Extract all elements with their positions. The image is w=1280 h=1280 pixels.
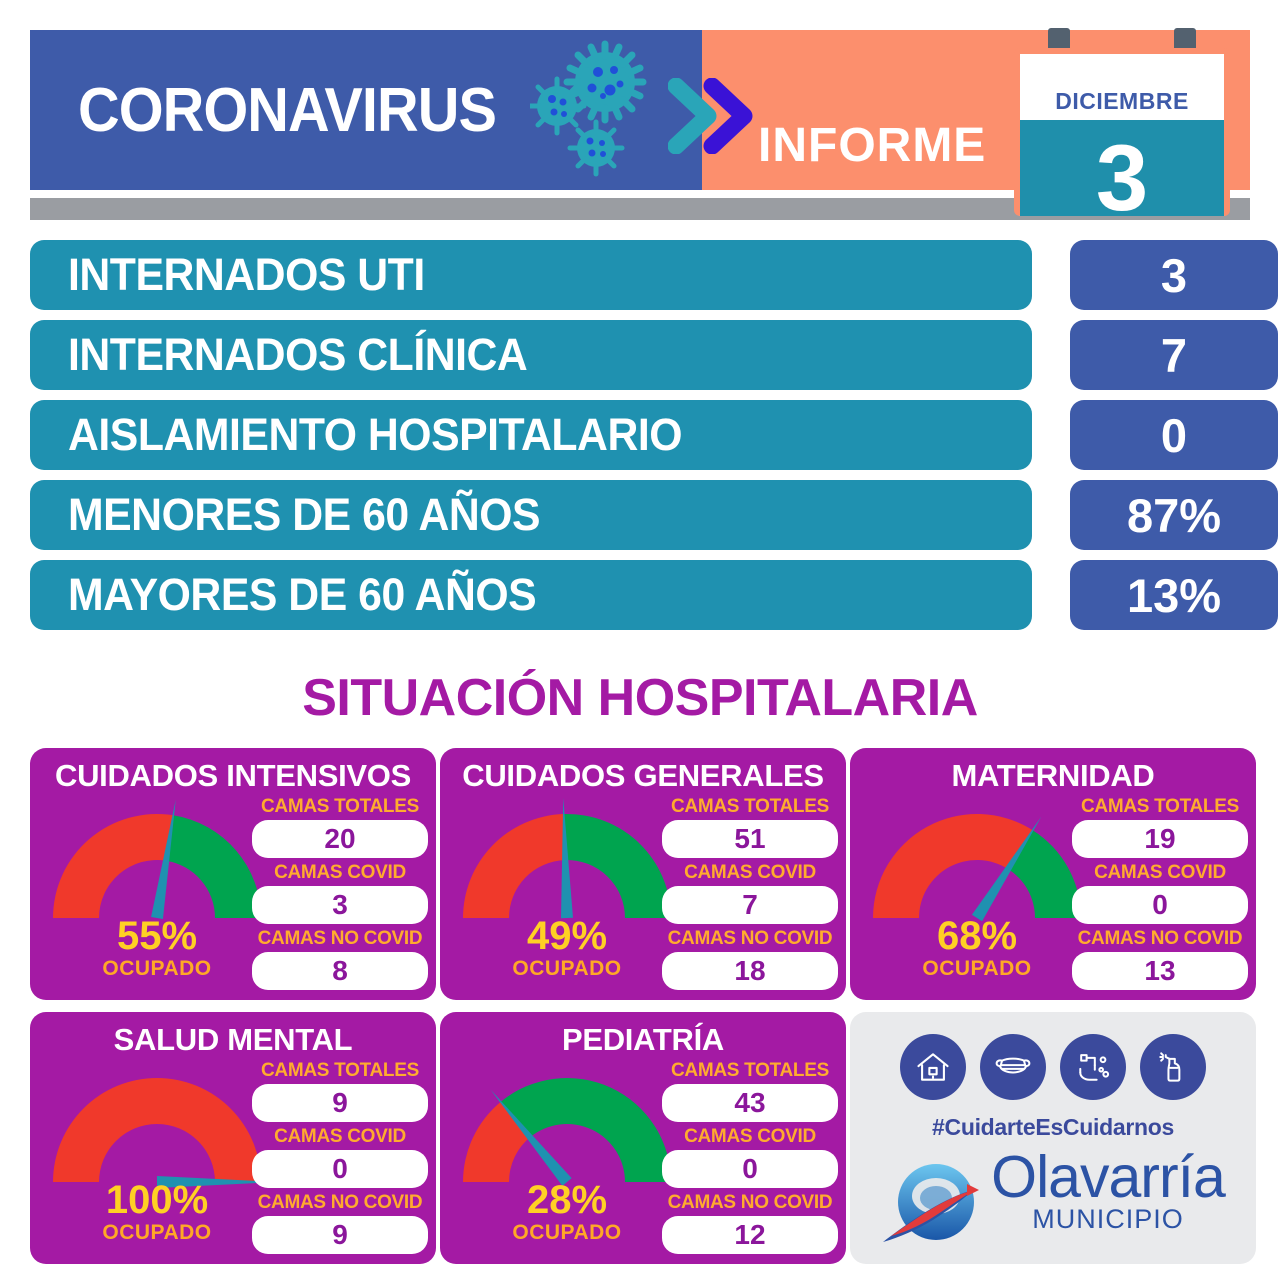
- prevention-icons: [850, 1034, 1256, 1100]
- bed-stats: CAMAS TOTALES 43 CAMAS COVID 0 CAMAS NO …: [662, 1060, 838, 1258]
- calendar-month: DICIEMBRE: [1020, 88, 1224, 115]
- bed-noncovid-value: 9: [252, 1216, 428, 1254]
- calendar-icon: DICIEMBRE 3: [1014, 28, 1230, 216]
- bed-total-value: 51: [662, 820, 838, 858]
- bed-noncovid-label: CAMAS NO COVID: [662, 1192, 838, 1214]
- gauge-percent: 55%: [42, 916, 272, 956]
- gauge-percent: 100%: [42, 1180, 272, 1220]
- olavarria-logo-mark: [881, 1150, 989, 1250]
- card-cuidados-generales: CUIDADOS GENERALES 49% OCUPADO CAMAS TOT…: [440, 748, 846, 1000]
- stat-label-pill: INTERNADOS CLÍNICA: [30, 320, 1032, 390]
- stat-label-text: MAYORES DE 60 AÑOS: [68, 569, 536, 621]
- page-title: CORONAVIRUS: [78, 80, 496, 142]
- bed-noncovid-label: CAMAS NO COVID: [662, 928, 838, 950]
- stat-label-pill: AISLAMIENTO HOSPITALARIO: [30, 400, 1032, 470]
- stat-value-text: 3: [1161, 248, 1187, 303]
- bed-covid-value: 3: [252, 886, 428, 924]
- card-title: SALUD MENTAL: [30, 1022, 436, 1058]
- bed-covid-label: CAMAS COVID: [662, 1126, 838, 1148]
- card-title: CUIDADOS GENERALES: [440, 758, 846, 794]
- bed-total-value: 20: [252, 820, 428, 858]
- stat-value-badge: 87%: [1070, 480, 1278, 550]
- bed-total-value: 9: [252, 1084, 428, 1122]
- card-title: CUIDADOS INTENSIVOS: [30, 758, 436, 794]
- stat-value-badge: 3: [1070, 240, 1278, 310]
- gauge-percent: 28%: [452, 1180, 682, 1220]
- calendar-body: DICIEMBRE 3: [1014, 48, 1230, 216]
- bed-total-label: CAMAS TOTALES: [662, 796, 838, 818]
- bed-total-label: CAMAS TOTALES: [252, 796, 428, 818]
- bed-stats: CAMAS TOTALES 19 CAMAS COVID 0 CAMAS NO …: [1072, 796, 1248, 994]
- stat-row: INTERNADOS CLÍNICA 7: [30, 320, 1250, 390]
- double-chevron-icon: [668, 78, 760, 154]
- bed-covid-value: 0: [1072, 886, 1248, 924]
- bed-noncovid-label: CAMAS NO COVID: [1072, 928, 1248, 950]
- face-mask-icon: [980, 1034, 1046, 1100]
- bed-stats: CAMAS TOTALES 51 CAMAS COVID 7 CAMAS NO …: [662, 796, 838, 994]
- stat-label-text: MENORES DE 60 AÑOS: [68, 489, 540, 541]
- bed-noncovid-value: 8: [252, 952, 428, 990]
- bed-noncovid-value: 18: [662, 952, 838, 990]
- report-label: INFORME: [758, 122, 986, 170]
- infographic-root: CORONAVIRUS: [0, 0, 1280, 1280]
- branding-panel: #CuidarteEsCuidarnos: [850, 1012, 1256, 1264]
- stat-row: MAYORES DE 60 AÑOS 13%: [30, 560, 1250, 630]
- calendar-day: 3: [1096, 131, 1148, 216]
- bed-total-label: CAMAS TOTALES: [662, 1060, 838, 1082]
- stat-row: AISLAMIENTO HOSPITALARIO 0: [30, 400, 1250, 470]
- bed-stats: CAMAS TOTALES 9 CAMAS COVID 0 CAMAS NO C…: [252, 1060, 428, 1258]
- house-icon: [900, 1034, 966, 1100]
- bed-stats: CAMAS TOTALES 20 CAMAS COVID 3 CAMAS NO …: [252, 796, 428, 994]
- gauge-chart: [862, 796, 1092, 926]
- virus-icon: [530, 40, 670, 185]
- gauge-chart: [452, 796, 682, 926]
- gauge-chart: [42, 796, 272, 926]
- bed-noncovid-value: 13: [1072, 952, 1248, 990]
- handwash-faucet-icon: [1060, 1034, 1126, 1100]
- stat-row: INTERNADOS UTI 3: [30, 240, 1250, 310]
- card-maternidad: MATERNIDAD 68% OCUPADO CAMAS TOTALES 19 …: [850, 748, 1256, 1000]
- bed-noncovid-label: CAMAS NO COVID: [252, 1192, 428, 1214]
- gauge-percent: 68%: [862, 916, 1092, 956]
- stat-label-pill: MAYORES DE 60 AÑOS: [30, 560, 1032, 630]
- stat-label-text: INTERNADOS CLÍNICA: [68, 329, 527, 381]
- stat-label-text: INTERNADOS UTI: [68, 249, 425, 301]
- bed-covid-value: 0: [662, 1150, 838, 1188]
- bed-covid-label: CAMAS COVID: [1072, 862, 1248, 884]
- bed-covid-value: 0: [252, 1150, 428, 1188]
- bed-total-value: 19: [1072, 820, 1248, 858]
- stat-label-pill: INTERNADOS UTI: [30, 240, 1032, 310]
- bed-covid-label: CAMAS COVID: [252, 1126, 428, 1148]
- logo-name: Olavarría: [991, 1146, 1225, 1208]
- card-title: PEDIATRÍA: [440, 1022, 846, 1058]
- stat-label-pill: MENORES DE 60 AÑOS: [30, 480, 1032, 550]
- stat-row: MENORES DE 60 AÑOS 87%: [30, 480, 1250, 550]
- spray-bottle-icon: [1140, 1034, 1206, 1100]
- bed-covid-label: CAMAS COVID: [252, 862, 428, 884]
- stat-value-badge: 13%: [1070, 560, 1278, 630]
- bed-total-label: CAMAS TOTALES: [252, 1060, 428, 1082]
- bed-covid-label: CAMAS COVID: [662, 862, 838, 884]
- card-salud-mental: SALUD MENTAL 100% OCUPADO CAMAS TOTALES …: [30, 1012, 436, 1264]
- stat-value-badge: 0: [1070, 400, 1278, 470]
- stat-value-text: 7: [1161, 328, 1187, 383]
- gauge-occupied-label: OCUPADO: [452, 1221, 682, 1245]
- statistics-list: INTERNADOS UTI 3 INTERNADOS CLÍNICA 7 AI…: [30, 240, 1250, 640]
- gauge-chart: [42, 1060, 272, 1190]
- municipality-logo: Olavarría MUNICIPIO: [850, 1146, 1256, 1256]
- gauge-percent: 49%: [452, 916, 682, 956]
- gauge-occupied-label: OCUPADO: [42, 957, 272, 981]
- section-title: SITUACIÓN HOSPITALARIA: [0, 668, 1280, 728]
- hashtag-text: #CuidarteEsCuidarnos: [850, 1114, 1256, 1141]
- gauge-occupied-label: OCUPADO: [862, 957, 1092, 981]
- calendar-day-area: 3: [1020, 120, 1224, 216]
- olavarria-logo-text: Olavarría MUNICIPIO: [991, 1146, 1225, 1235]
- card-pediatria: PEDIATRÍA 28% OCUPADO CAMAS TOTALES 43 C…: [440, 1012, 846, 1264]
- stat-value-badge: 7: [1070, 320, 1278, 390]
- card-cuidados-intensivos: CUIDADOS INTENSIVOS 55% OCUPADO CAMAS TO…: [30, 748, 436, 1000]
- bed-noncovid-value: 12: [662, 1216, 838, 1254]
- stat-value-text: 0: [1161, 408, 1187, 463]
- gauge-occupied-label: OCUPADO: [452, 957, 682, 981]
- bed-total-label: CAMAS TOTALES: [1072, 796, 1248, 818]
- card-title: MATERNIDAD: [850, 758, 1256, 794]
- gauge-chart: [452, 1060, 682, 1190]
- bed-total-value: 43: [662, 1084, 838, 1122]
- stat-label-text: AISLAMIENTO HOSPITALARIO: [68, 409, 682, 461]
- bed-noncovid-label: CAMAS NO COVID: [252, 928, 428, 950]
- stat-value-text: 87%: [1127, 488, 1221, 543]
- stat-value-text: 13%: [1127, 568, 1221, 623]
- gauge-occupied-label: OCUPADO: [42, 1221, 272, 1245]
- bed-covid-value: 7: [662, 886, 838, 924]
